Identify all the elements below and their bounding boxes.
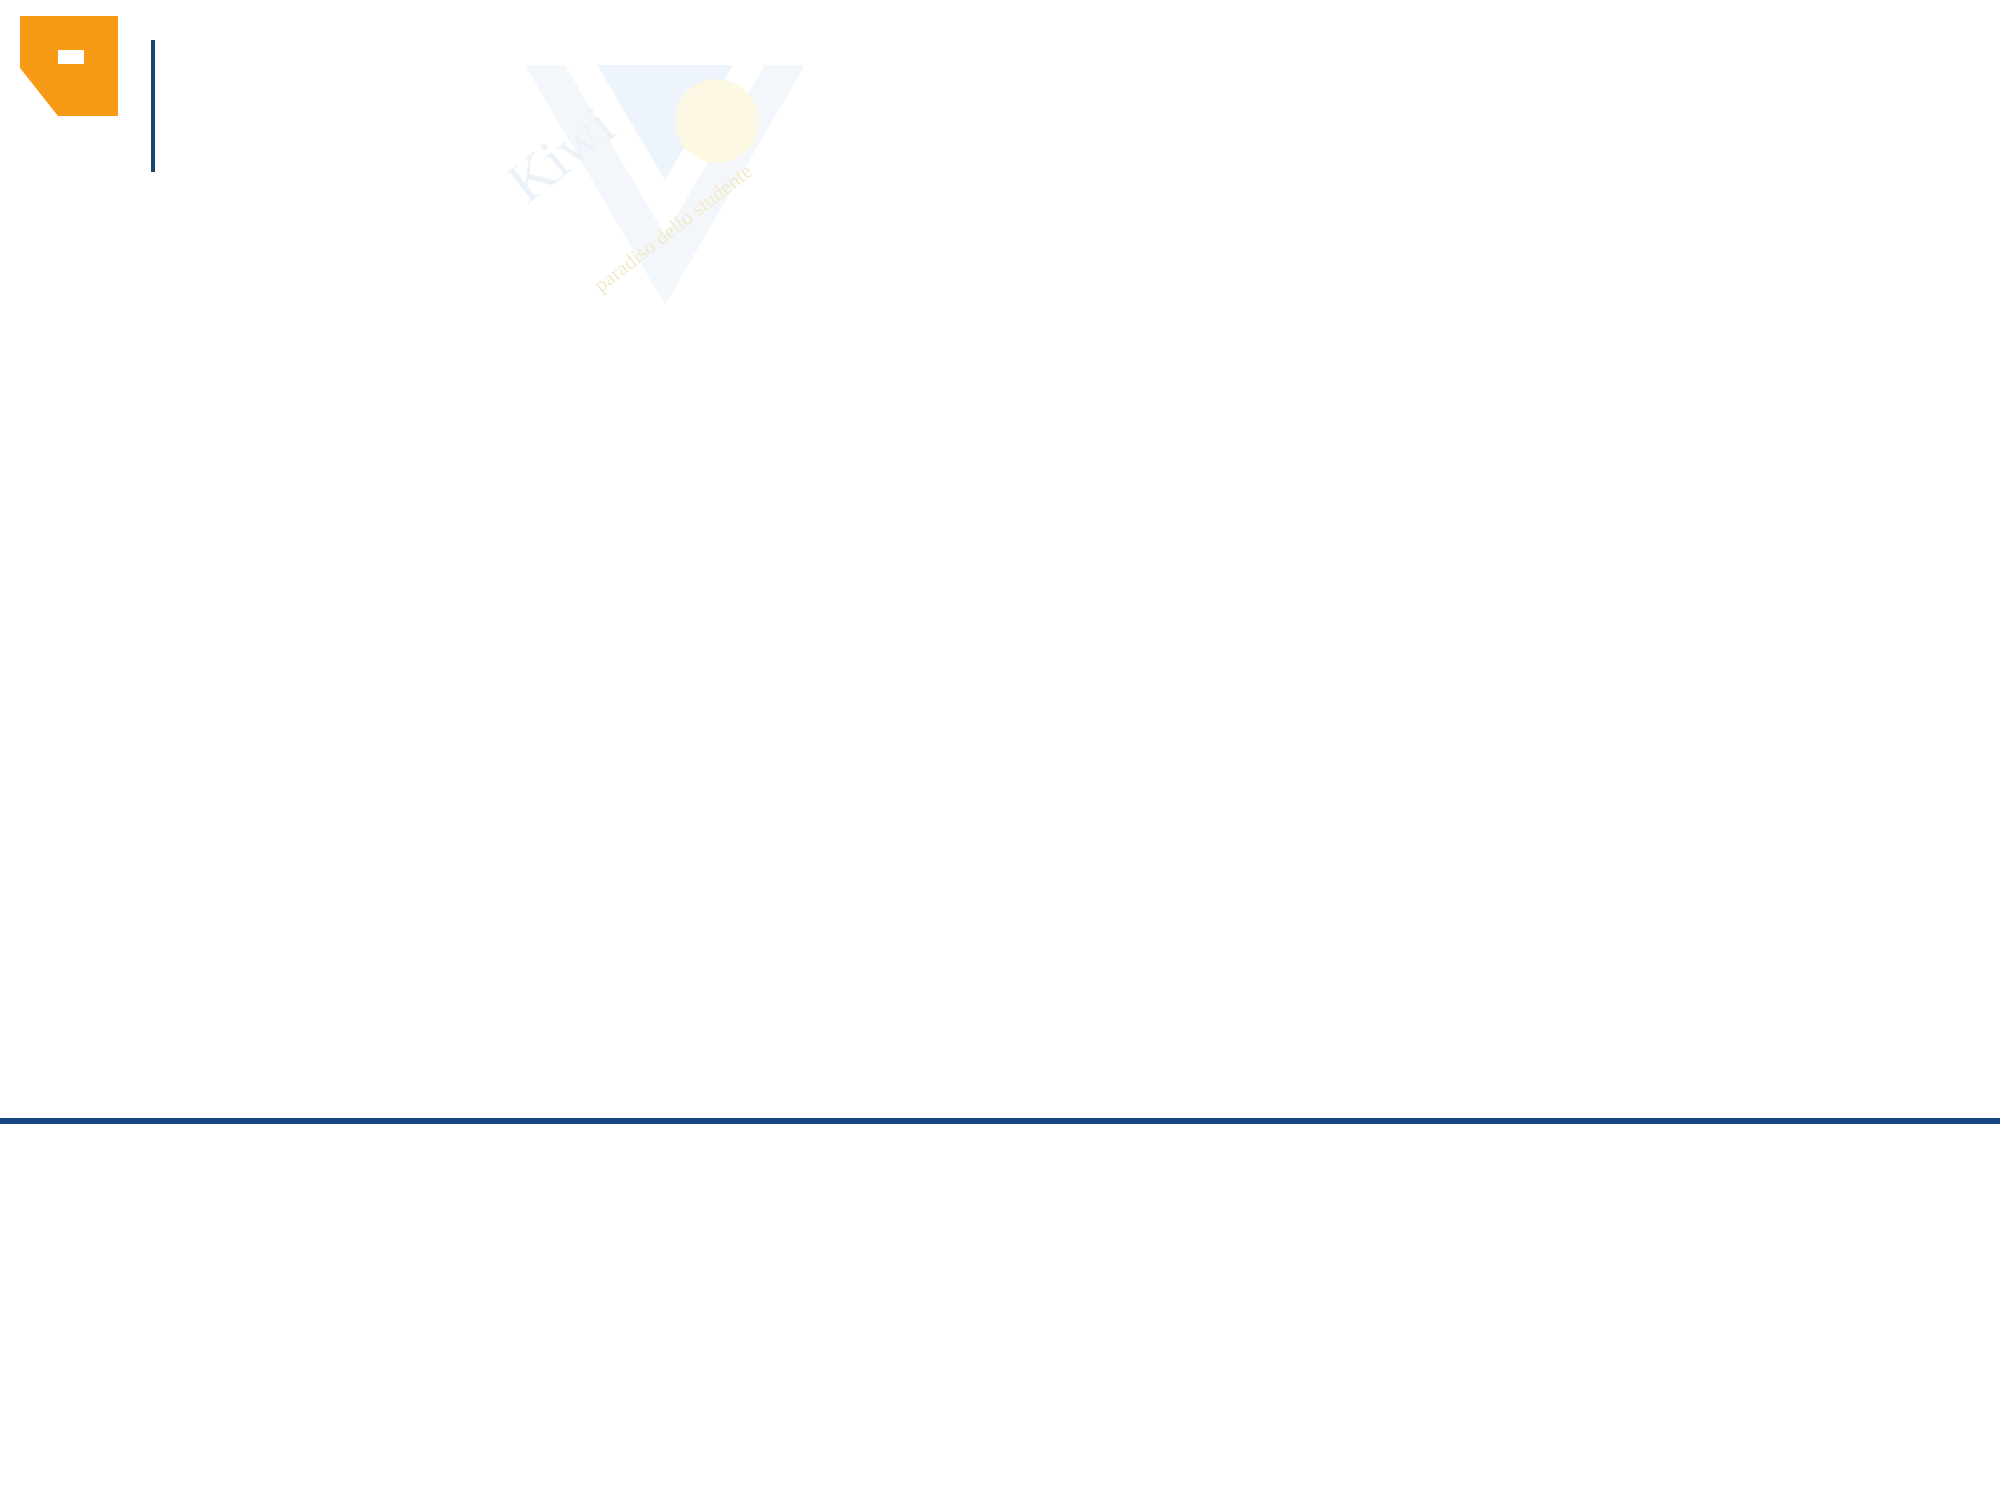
header-segment-bar xyxy=(0,136,2000,154)
orange-bent-arrow-icon xyxy=(14,12,124,122)
slide-header xyxy=(0,0,2000,135)
footer-rule xyxy=(0,1118,2000,1124)
svg-text:paradiso dello studente: paradiso dello studente xyxy=(589,159,756,297)
footer-segment-bar xyxy=(1012,1440,2000,1500)
stress-strain-chart xyxy=(405,495,1165,1095)
